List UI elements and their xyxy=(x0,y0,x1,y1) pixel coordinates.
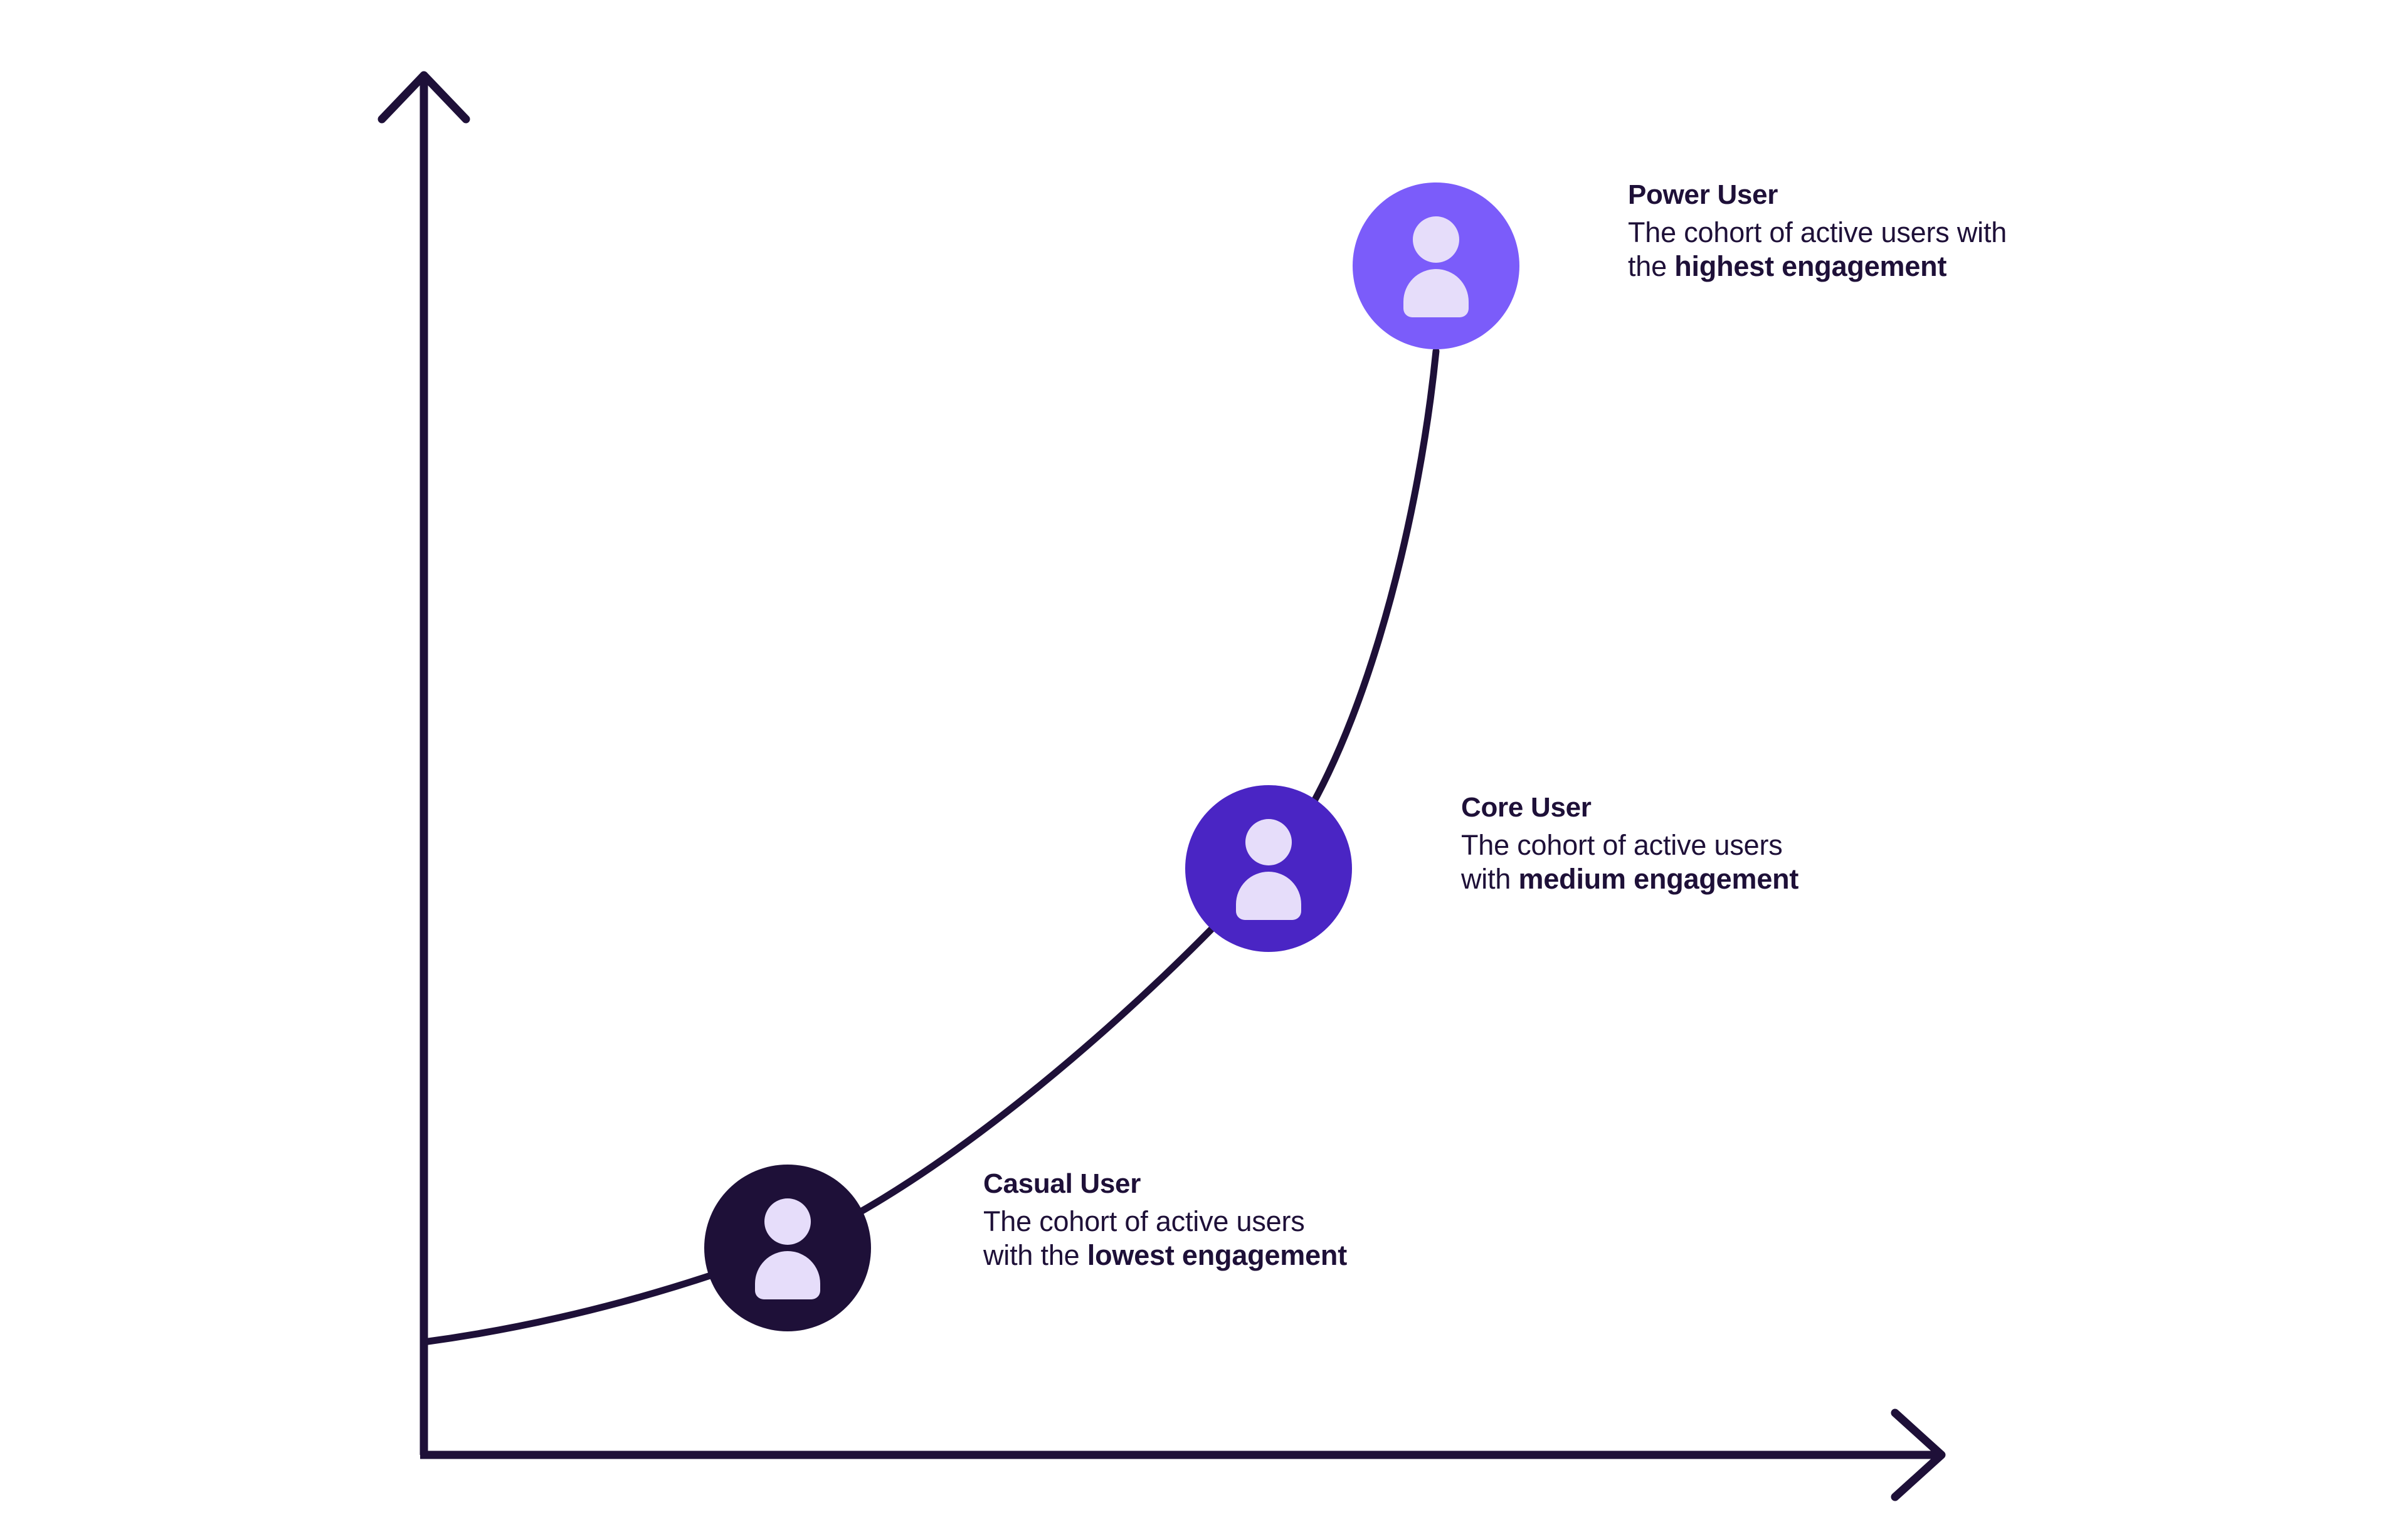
power-user-desc-emphasis: highest engagement xyxy=(1674,250,1946,282)
core-user-desc-emphasis: medium engagement xyxy=(1519,863,1799,895)
engagement-curve-diagram xyxy=(0,0,2408,1522)
callout-casual-user: Casual User The cohort of active users w… xyxy=(983,1168,1360,1272)
power-user-title: Power User xyxy=(1628,179,2029,212)
core-user-title: Core User xyxy=(1461,791,1837,825)
node-power-user[interactable] xyxy=(1353,182,1519,349)
casual-user-desc-emphasis: lowest engagement xyxy=(1087,1239,1347,1271)
core-user-circle[interactable] xyxy=(1185,785,1352,952)
power-user-description: The cohort of active users with the high… xyxy=(1628,216,2029,283)
callout-core-user: Core User The cohort of active users wit… xyxy=(1461,791,1837,896)
core-user-description: The cohort of active users with medium e… xyxy=(1461,828,1837,896)
power-user-circle[interactable] xyxy=(1353,182,1519,349)
casual-user-description: The cohort of active users with the lowe… xyxy=(983,1205,1360,1272)
callout-power-user: Power User The cohort of active users wi… xyxy=(1628,179,2029,283)
casual-user-circle[interactable] xyxy=(704,1165,871,1331)
diagram-canvas: Power User The cohort of active users wi… xyxy=(0,0,2408,1522)
node-casual-user[interactable] xyxy=(704,1165,871,1331)
node-core-user[interactable] xyxy=(1185,785,1352,952)
casual-user-title: Casual User xyxy=(983,1168,1360,1201)
